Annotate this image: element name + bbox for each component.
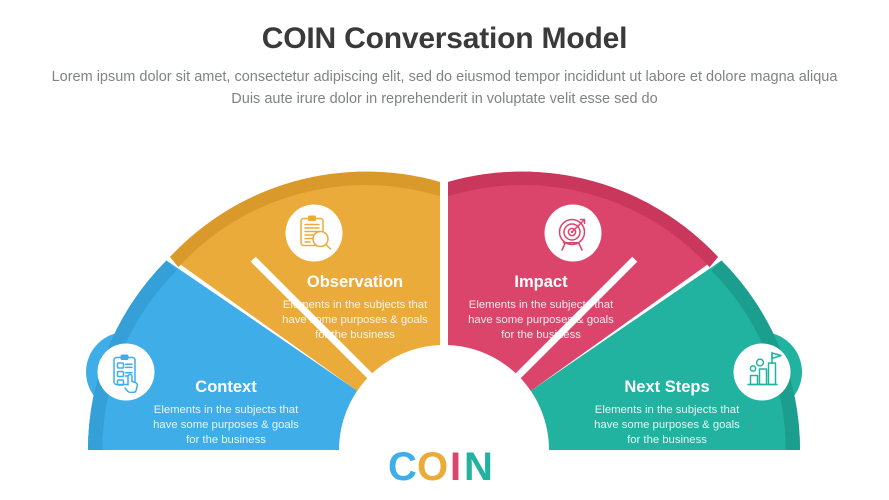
impact-desc-line-3: for the business	[501, 329, 581, 341]
logo-letter-n: N	[464, 445, 494, 489]
coin-semicircle-diagram: Context Elements in the subjects that ha…	[0, 150, 889, 500]
diagram-svg: Context Elements in the subjects that ha…	[0, 150, 889, 500]
page-subtitle: Lorem ipsum dolor sit amet, consectetur …	[45, 56, 845, 111]
next-steps-title: Next Steps	[624, 378, 709, 396]
impact-desc-line-1: Elements in the subjects that	[469, 299, 614, 311]
observation-desc-line-3: for the business	[315, 329, 395, 341]
observation-badge-disc	[286, 205, 343, 262]
next-steps-badge-disc	[734, 344, 791, 401]
next-steps-desc-line-1: Elements in the subjects that	[595, 404, 740, 416]
context-desc-line-2: have some purposes & goals	[153, 419, 299, 431]
impact-desc-line-2: have some purposes & goals	[468, 314, 614, 326]
observation-desc-line-2: have some purposes & goals	[282, 314, 428, 326]
subtitle-line-1: Lorem ipsum dolor sit amet, consectetur …	[52, 69, 686, 85]
infographic-page: COIN Conversation Model Lorem ipsum dolo…	[0, 0, 889, 500]
impact-title: Impact	[514, 273, 568, 291]
context-desc-line-1: Elements in the subjects that	[154, 404, 299, 416]
context-desc-line-3: for the business	[186, 434, 266, 446]
coin-logo: C O I N	[388, 445, 494, 489]
observation-desc-line-1: Elements in the subjects that	[283, 299, 428, 311]
context-title: Context	[195, 378, 257, 396]
logo-letter-i: I	[450, 445, 462, 489]
next-steps-desc-line-2: have some purposes & goals	[594, 419, 740, 431]
observation-title: Observation	[307, 273, 403, 291]
next-steps-desc-line-3: for the business	[627, 434, 707, 446]
page-title: COIN Conversation Model	[0, 0, 889, 56]
logo-letter-c: C	[388, 445, 418, 489]
header: COIN Conversation Model Lorem ipsum dolo…	[0, 0, 889, 111]
context-badge-disc	[98, 344, 155, 401]
logo-letter-o: O	[417, 445, 449, 489]
impact-badge-disc	[545, 205, 602, 262]
